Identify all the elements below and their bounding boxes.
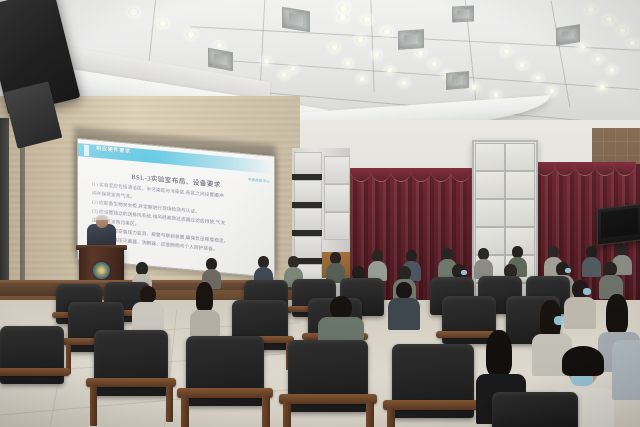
panel-cell <box>475 171 505 199</box>
air-conditioning-diffuser <box>282 7 310 32</box>
recessed-downlight <box>492 92 500 98</box>
recessed-downlight <box>262 58 271 64</box>
recessed-downlight <box>586 6 596 13</box>
column-reveal <box>292 174 322 180</box>
face-mask <box>554 316 564 325</box>
curtain-valance <box>534 162 640 175</box>
recessed-downlight <box>604 16 614 23</box>
attendee-hair <box>562 346 604 376</box>
panel-cell <box>475 143 505 171</box>
recessed-downlight <box>534 75 542 81</box>
recessed-downlight <box>338 4 349 12</box>
recessed-downlight <box>158 20 168 27</box>
recessed-downlight <box>594 56 602 62</box>
column-tile <box>294 180 322 204</box>
recessed-downlight <box>358 76 366 82</box>
chair-leg <box>283 402 291 427</box>
chair-leg <box>181 396 189 427</box>
recessed-downlight <box>386 67 394 73</box>
presenter-hair <box>96 215 108 220</box>
chair <box>186 336 264 406</box>
recessed-downlight <box>362 16 372 23</box>
wall-mounted-display <box>597 203 640 246</box>
recessed-downlight <box>502 48 511 55</box>
recessed-downlight <box>330 44 339 51</box>
attendee-body <box>582 257 601 277</box>
recessed-downlight <box>356 36 365 43</box>
recessed-downlight <box>578 44 587 50</box>
column-reveal <box>292 230 322 236</box>
recessed-downlight <box>372 52 381 58</box>
column-tile <box>324 156 350 184</box>
chair-armrest <box>177 388 273 398</box>
recessed-downlight <box>289 66 297 72</box>
panel-cell <box>505 171 535 199</box>
recessed-downlight <box>618 27 627 34</box>
column-tile <box>294 208 322 232</box>
face-mask <box>461 270 467 275</box>
face-mask <box>583 288 591 295</box>
chair-armrest <box>0 368 70 376</box>
air-conditioning-diffuser <box>452 5 474 22</box>
attendee-body <box>564 297 596 329</box>
attendee-head <box>398 266 411 280</box>
chair-leg <box>366 402 374 427</box>
chair-leg <box>90 386 97 426</box>
curtain-valance <box>350 168 474 181</box>
chair-armrest <box>383 400 483 410</box>
slide-title-tab <box>84 145 89 156</box>
recessed-downlight <box>186 31 196 38</box>
recessed-downlight <box>598 84 606 90</box>
recessed-downlight <box>215 42 224 49</box>
attendee-head <box>396 282 412 299</box>
chair <box>288 340 368 412</box>
recessed-downlight <box>430 61 438 67</box>
recessed-downlight <box>400 80 408 86</box>
wall-divider <box>0 118 9 288</box>
air-conditioning-diffuser <box>398 29 424 50</box>
recessed-downlight <box>518 62 526 68</box>
chair <box>94 330 168 396</box>
chair-leg <box>262 396 270 427</box>
column-tile <box>324 212 350 240</box>
recessed-downlight <box>344 60 352 66</box>
recessed-downlight <box>280 72 288 78</box>
recessed-downlight <box>608 67 616 73</box>
attendee-head <box>196 282 213 312</box>
chair-armrest <box>86 378 176 387</box>
panel-cell <box>505 143 535 171</box>
recessed-downlight <box>470 84 478 90</box>
chair <box>392 344 474 418</box>
column-tile <box>294 236 322 260</box>
attendee-head <box>140 286 156 303</box>
chair-leg <box>387 408 395 427</box>
column-reveal <box>292 202 322 208</box>
panel-cell <box>505 199 535 227</box>
lecture-hall-photo: 相应硬件要求 中国疾控中心 BSL-3实验室布局、设备要求 (1) 实验室应包括… <box>0 0 640 427</box>
attendee-body <box>612 340 640 400</box>
recessed-downlight <box>548 88 556 94</box>
attendee-head <box>330 296 352 319</box>
attendee-head <box>606 294 628 334</box>
attendee-body <box>388 298 420 330</box>
institution-crest-icon <box>93 262 110 279</box>
recessed-downlight <box>382 28 392 35</box>
air-conditioning-diffuser <box>556 24 580 46</box>
face-mask <box>565 268 571 273</box>
recessed-downlight <box>338 14 348 21</box>
chair-back <box>492 392 578 427</box>
recessed-downlight <box>628 40 637 46</box>
attendee-head <box>604 262 617 276</box>
chair <box>0 326 64 384</box>
chair <box>492 392 578 427</box>
attendee-body <box>190 310 220 336</box>
chair-armrest <box>279 394 377 404</box>
column-tile <box>294 152 322 176</box>
recessed-downlight <box>416 50 425 56</box>
recessed-downlight <box>128 8 139 16</box>
panel-cell <box>475 199 505 227</box>
air-conditioning-diffuser <box>446 71 469 90</box>
chair-leg <box>166 386 173 422</box>
attendee-head <box>486 330 512 376</box>
column-tile <box>324 184 350 212</box>
